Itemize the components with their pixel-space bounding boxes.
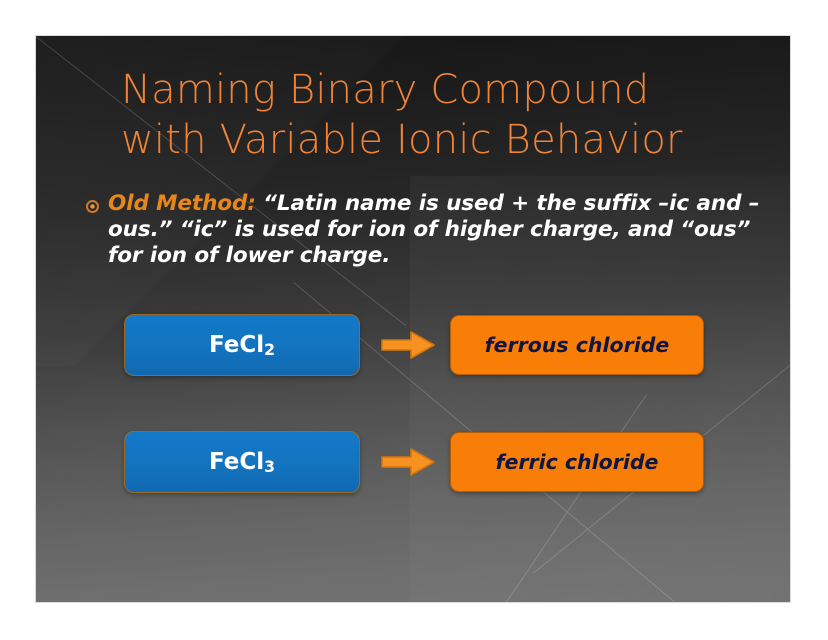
bullet-text: Old Method: “Latin name is used + the su… bbox=[108, 191, 762, 269]
formula-subscript: 2 bbox=[264, 340, 275, 359]
name-box[interactable]: ferric chloride bbox=[450, 432, 704, 492]
ring-bullet-icon bbox=[86, 200, 99, 213]
right-arrow-icon bbox=[381, 330, 436, 360]
name-box[interactable]: ferrous chloride bbox=[450, 315, 704, 375]
compound-name: ferrous chloride bbox=[485, 333, 670, 357]
formula-subscript: 3 bbox=[264, 457, 275, 476]
right-arrow-icon bbox=[381, 447, 436, 477]
facet-line-bottom bbox=[506, 395, 647, 602]
presentation-slide: Naming Binary Compound with Variable Ion… bbox=[36, 36, 790, 602]
formula-base: FeCl bbox=[209, 449, 264, 475]
formula-box[interactable]: FeCl2 bbox=[124, 314, 360, 376]
compound-name: ferric chloride bbox=[496, 450, 659, 474]
bullet-paragraph: Old Method: “Latin name is used + the su… bbox=[86, 191, 762, 269]
diagram-row: FeCl3 ferric chloride bbox=[36, 431, 790, 493]
formula-box[interactable]: FeCl3 bbox=[124, 431, 360, 493]
slide-canvas: Naming Binary Compound with Variable Ion… bbox=[0, 0, 828, 640]
slide-title: Naming Binary Compound with Variable Ion… bbox=[121, 65, 761, 165]
old-method-label: Old Method: bbox=[108, 191, 256, 216]
diagram-row: FeCl2 ferrous chloride bbox=[36, 314, 790, 376]
formula-base: FeCl bbox=[209, 332, 264, 358]
